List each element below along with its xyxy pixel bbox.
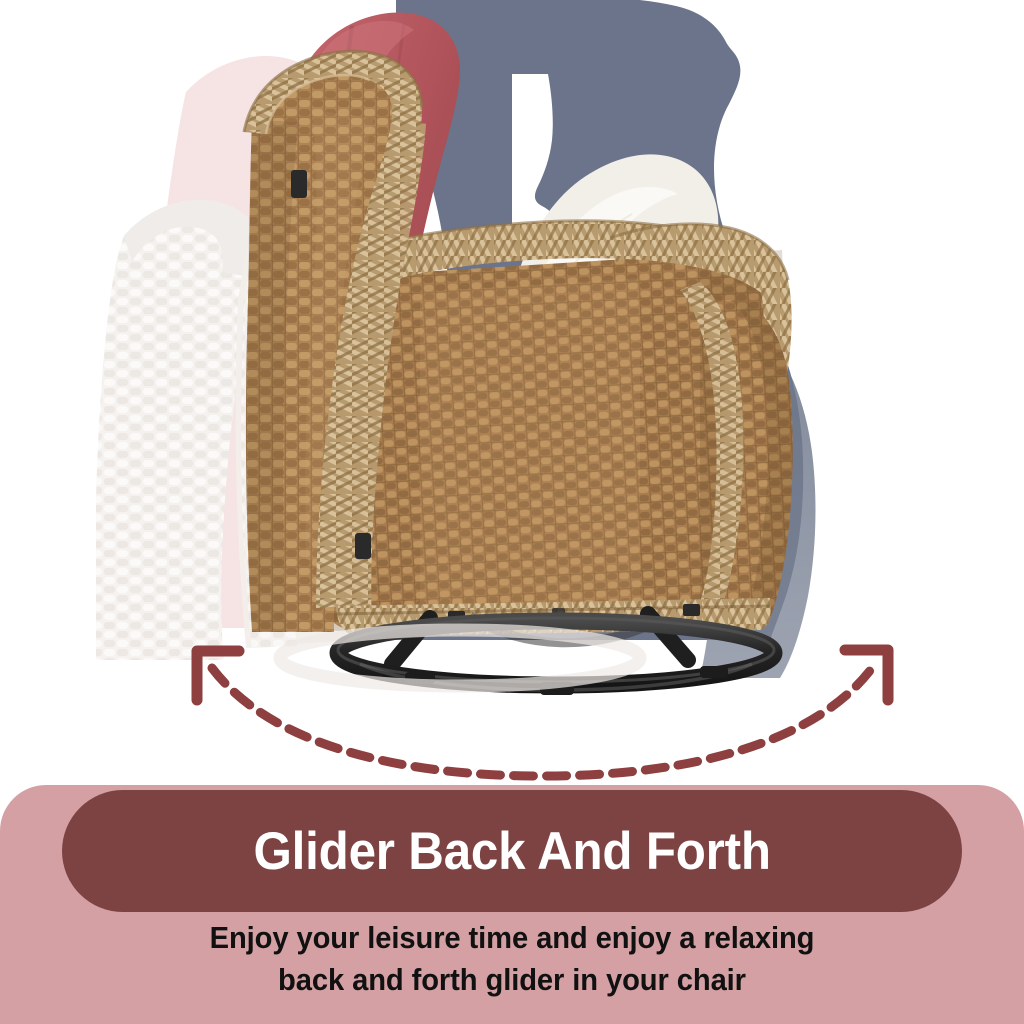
caption-panel: Glider Back And Forth Enjoy your leisure… [0,785,1024,1024]
product-feature-image: Glider Back And Forth Enjoy your leisure… [0,0,1024,1024]
title-pill: Glider Back And Forth [62,790,962,912]
subtitle-text: Enjoy your leisure time and enjoy a rela… [0,917,1024,1001]
product-photo [0,0,1024,800]
subtitle-line-2: back and forth glider in your chair [31,959,994,1001]
subtitle-line-1: Enjoy your leisure time and enjoy a rela… [31,917,994,959]
page-title: Glider Back And Forth [253,825,770,878]
